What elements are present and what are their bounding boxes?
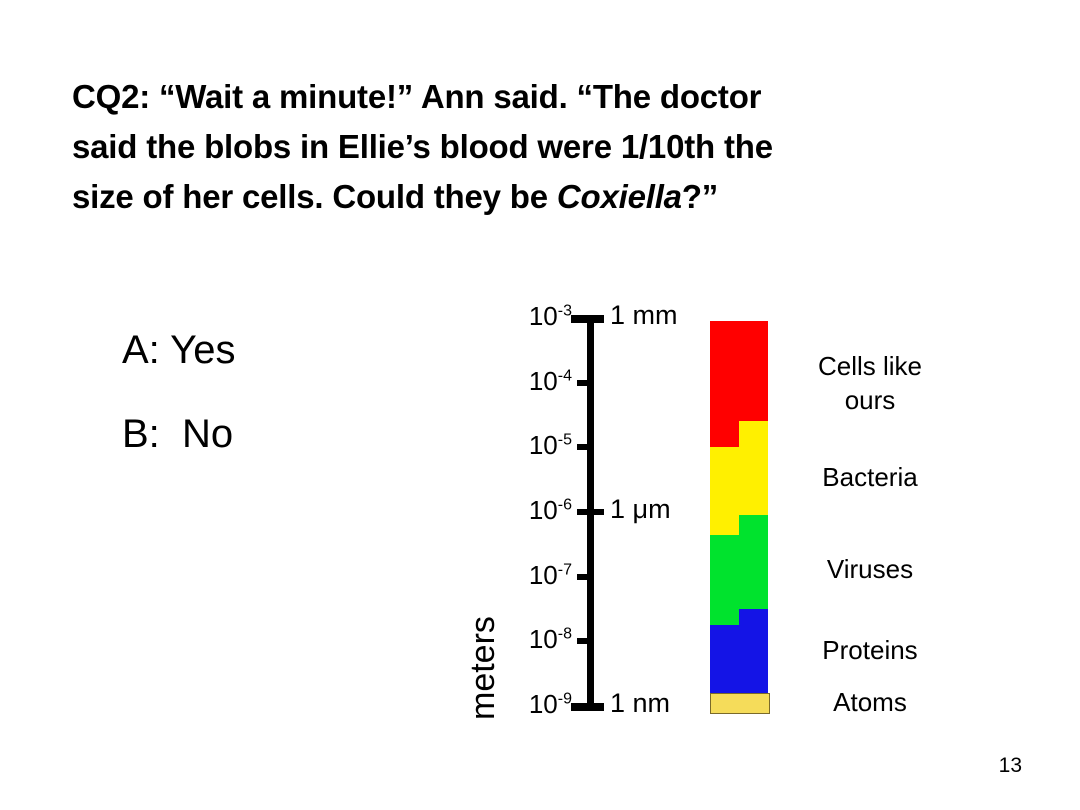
- page-title: CQ2: “Wait a minute!” Ann said. “The doc…: [72, 72, 1002, 222]
- category-label-proteins: Proteins: [780, 634, 960, 667]
- answer-choice-b[interactable]: B: No: [122, 414, 452, 454]
- size-band-proteins: [710, 625, 768, 693]
- axis-tick-label--5: 10-5: [482, 430, 572, 461]
- axis-tick-10-5: [577, 444, 594, 450]
- category-label-viruses: Viruses: [780, 553, 960, 586]
- slide-number: 13: [999, 754, 1022, 778]
- axis-tick-label--7: 10-7: [482, 560, 572, 591]
- title-line-3-post: ?”: [682, 178, 718, 215]
- answer-choices: A: Yes B: No: [122, 330, 452, 454]
- size-band-group: [710, 290, 770, 730]
- axis-tick-10-8: [577, 638, 594, 644]
- size-band-viruses-overlap: [739, 515, 768, 534]
- title-line-3: size of her cells. Could they be Coxiell…: [72, 172, 1002, 222]
- axis-tick-label--4: 10-4: [482, 366, 572, 397]
- axis-tick-10-4: [577, 380, 594, 386]
- category-label-atoms: Atoms: [780, 686, 960, 719]
- axis-tick-label--9: 10-9: [482, 689, 572, 720]
- size-scale-figure: meters 10-31 mm10-410-510-61 μm10-710-81…: [470, 290, 990, 730]
- axis-tick-label--3: 10-3: [482, 301, 572, 332]
- size-band-bacteria-overlap: [739, 421, 768, 447]
- title-line-3-pre: size of her cells. Could they be: [72, 178, 557, 215]
- title-line-2: said the blobs in Ellie’s blood were 1/1…: [72, 122, 1002, 172]
- axis-unit-label-1-mm: 1 mm: [610, 300, 678, 331]
- size-band-proteins-overlap: [739, 609, 768, 625]
- category-label-cells-like-ours: Cells likeours: [780, 350, 960, 417]
- axis-tick-10-7: [577, 574, 594, 580]
- axis-tick-10-6: [577, 509, 604, 515]
- axis-tick-label--6: 10-6: [482, 495, 572, 526]
- category-label-bacteria: Bacteria: [780, 461, 960, 494]
- axis-unit-label-1-nm: 1 nm: [610, 688, 670, 719]
- size-band-atoms: [710, 693, 770, 714]
- title-line-1: CQ2: “Wait a minute!” Ann said. “The doc…: [72, 72, 1002, 122]
- axis-unit-label-1-μm: 1 μm: [610, 494, 671, 525]
- title-species-name: Coxiella: [557, 178, 682, 215]
- axis-tick-10-3: [571, 315, 604, 323]
- slide: CQ2: “Wait a minute!” Ann said. “The doc…: [0, 0, 1080, 810]
- axis-tick-label--8: 10-8: [482, 624, 572, 655]
- axis-tick-10-9: [571, 703, 604, 711]
- answer-choice-a[interactable]: A: Yes: [122, 330, 452, 370]
